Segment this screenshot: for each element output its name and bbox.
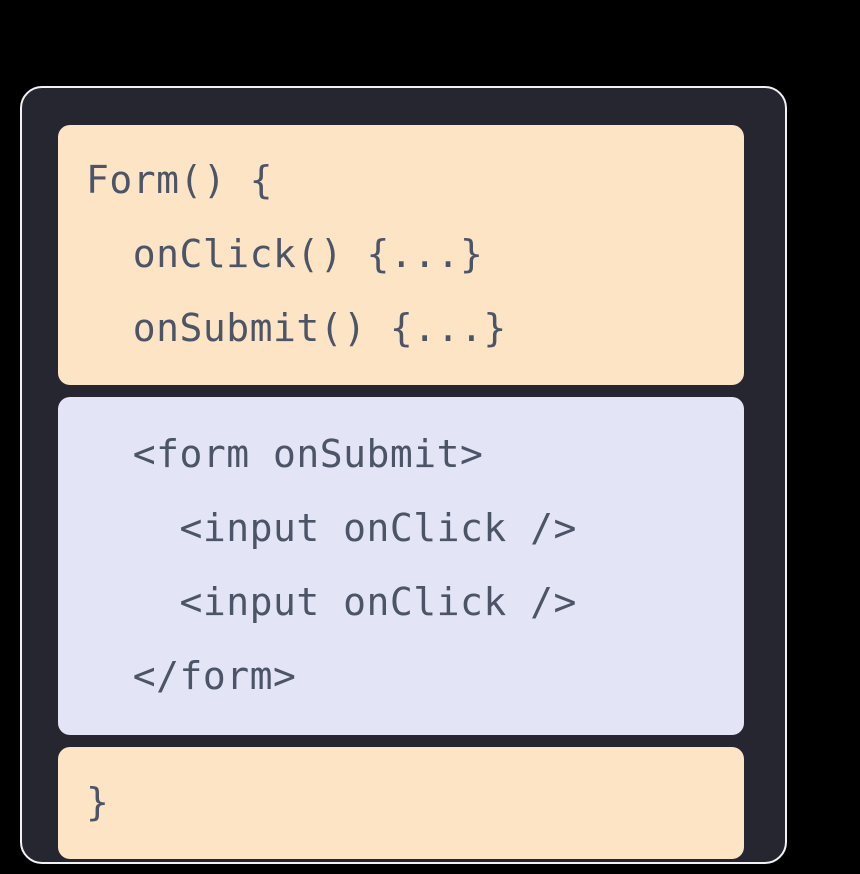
canvas: Form() { onClick() {...} onSubmit() {...… — [0, 0, 860, 874]
code-line: <form onSubmit> — [86, 417, 716, 491]
code-line: </form> — [86, 639, 716, 713]
panel-jsx-markup[interactable]: <form onSubmit> <input onClick /> <input… — [58, 397, 744, 735]
panel-stack: Form() { onClick() {...} onSubmit() {...… — [58, 125, 744, 859]
code-line: <input onClick /> — [86, 565, 716, 639]
code-line: onSubmit() {...} — [86, 291, 716, 365]
code-line: Form() { — [86, 143, 716, 217]
code-line: onClick() {...} — [86, 217, 716, 291]
panel-component-definition[interactable]: Form() { onClick() {...} onSubmit() {...… — [58, 125, 744, 385]
code-container: Form() { onClick() {...} onSubmit() {...… — [20, 86, 787, 864]
code-line: } — [86, 765, 716, 839]
panel-component-closing[interactable]: } — [58, 747, 744, 859]
code-line: <input onClick /> — [86, 491, 716, 565]
